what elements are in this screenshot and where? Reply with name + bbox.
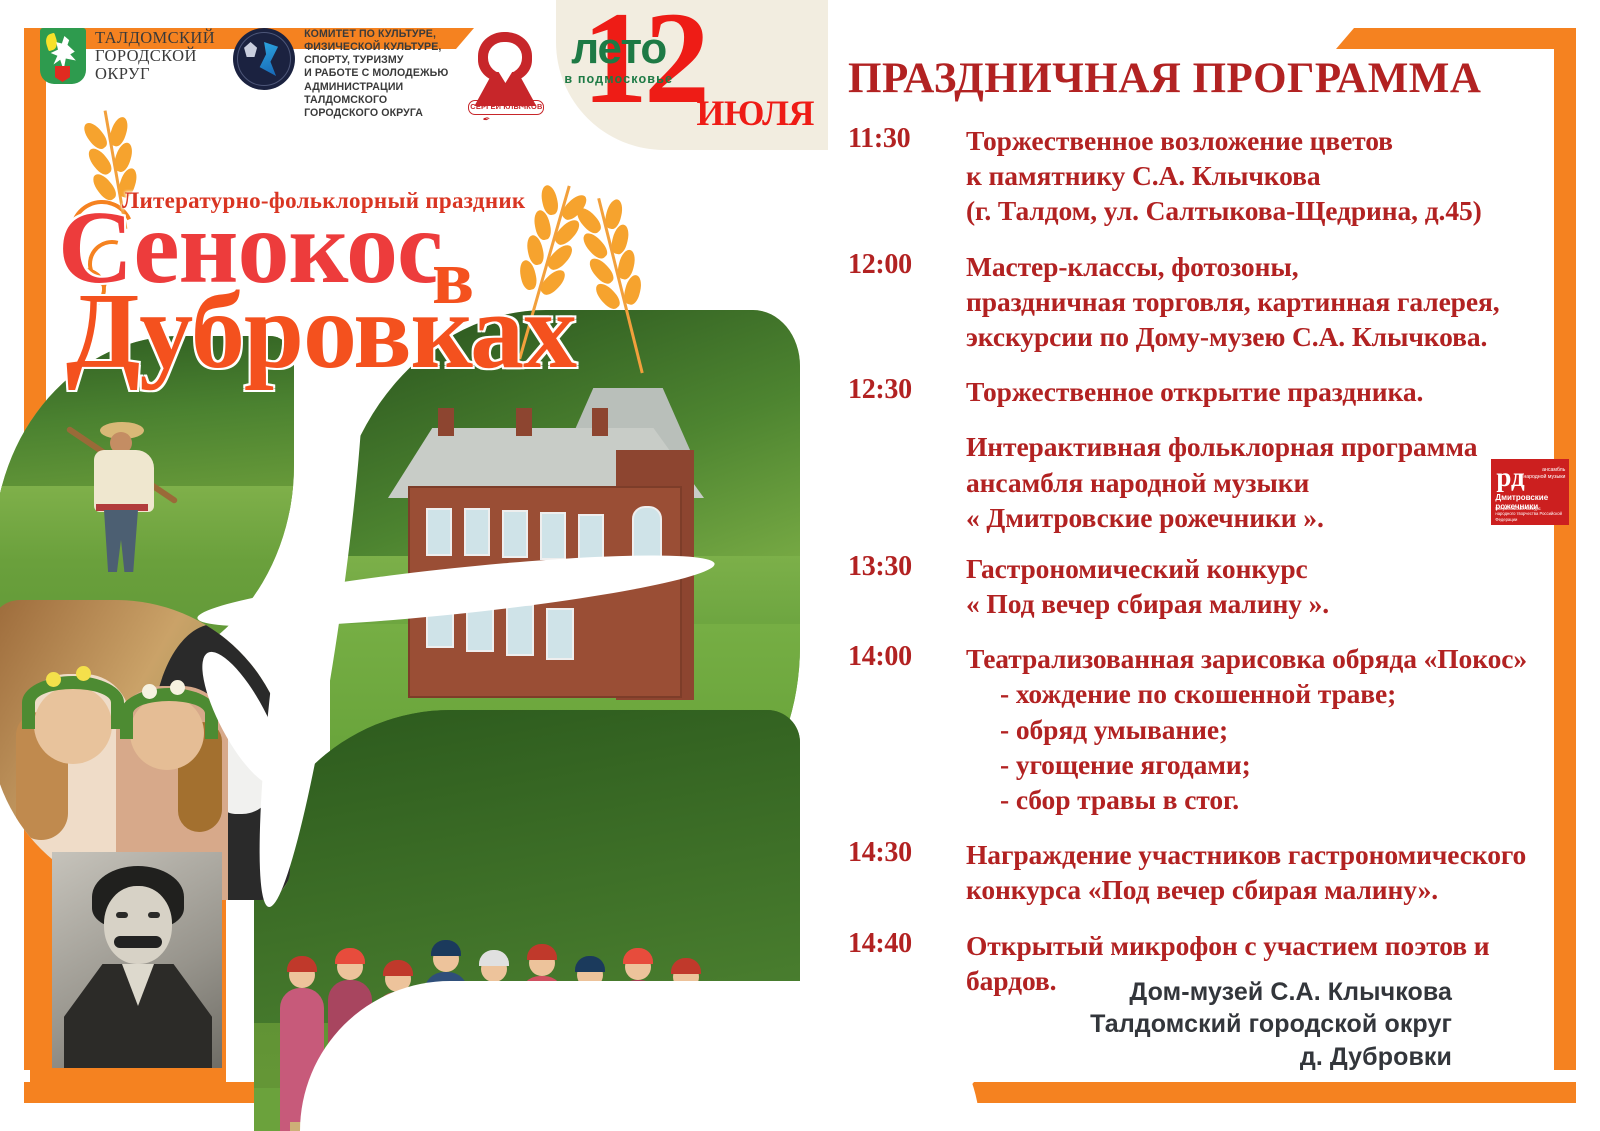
program-description: Торжественное открытие праздника. (966, 374, 1423, 409)
footer-line-2: Талдомский городской округ (1090, 1008, 1452, 1041)
program-time: 14:00 (848, 641, 966, 817)
leto-word: лето (571, 28, 666, 70)
house-chimney (592, 408, 608, 436)
culture-committee-logo: КОМИТЕТ ПО КУЛЬТУРЕ, ФИЗИЧЕСКОЙ КУЛЬТУРЕ… (233, 28, 448, 120)
portrait-eye (148, 912, 160, 918)
linen-shirt (94, 450, 154, 512)
portrait-moustache (114, 936, 162, 948)
program-row: 13:30 Гастрономический конкурс « Под веч… (848, 551, 1538, 621)
program-line: « Под вечер сбирая малину ». (966, 586, 1329, 621)
frame-right (1554, 28, 1576, 1070)
program-line: Мастер-классы, фотозоны, (966, 249, 1500, 284)
program-time: 12:00 (848, 249, 966, 355)
program-line: ансамбля народной музыки (966, 465, 1477, 500)
footer-line-1: Дом-музей С.А. Клычкова (1090, 976, 1452, 1009)
program-row: 12:30 Торжественное открытие праздника. (848, 374, 1538, 409)
header-logos: ТАЛДОМСКИЙ ГОРОДСКОЙ ОКРУГ КОМИТЕТ ПО КУ… (40, 28, 673, 120)
dmitrovskie-rozhechniki-logo: рд ансамбль народной музыки Дмитровские … (1491, 459, 1569, 525)
portrait-face (104, 886, 172, 964)
flower-wreath (120, 688, 218, 739)
program-line: конкурса «Под вечер сбирая малину». (966, 872, 1526, 907)
program-line: Торжественное возложение цветов (966, 123, 1482, 158)
footer-venue: Дом-музей С.А. Клычкова Талдомский город… (1090, 976, 1452, 1074)
coat-line-2: ГОРОДСКОЙ (95, 47, 215, 65)
program-heading: ПРАЗДНИЧНАЯ ПРОГРАММА (848, 54, 1538, 103)
coat-of-arms-text: ТАЛДОМСКИЙ ГОРОДСКОЙ ОКРУГ (95, 29, 215, 83)
program-line: Театрализованная зарисовка обряда «Покос… (966, 641, 1527, 676)
program-bullet: - сбор травы в стог. (966, 782, 1527, 817)
program-time: 12:30 (848, 374, 966, 409)
program-panel: ПРАЗДНИЧНАЯ ПРОГРАММА 11:30 Торжественно… (848, 54, 1538, 1018)
house-window (464, 508, 490, 556)
program-line: (г. Талдом, ул. Салтыкова-Щедрина, д.45) (966, 193, 1482, 228)
wreath-flower (142, 684, 157, 699)
program-row: 11:30 Торжественное возложение цветов к … (848, 123, 1538, 229)
house-chimney (438, 408, 454, 436)
event-poster: ТАЛДОМСКИЙ ГОРОДСКОЙ ОКРУГ КОМИТЕТ ПО КУ… (0, 0, 1600, 1131)
date-month: ИЮЛЯ (696, 92, 814, 134)
coat-of-arms-icon (40, 28, 86, 84)
klychkov-logo-name: СЕРГЕЙ КЛЫЧКОВ (468, 100, 544, 115)
program-description: Интерактивная фольклорная программа анса… (966, 429, 1477, 535)
program-description: Мастер-классы, фотозоны, праздничная тор… (966, 249, 1500, 355)
program-row: 14:30 Награждение участников гастрономич… (848, 837, 1538, 907)
leto-v-podmoskovye-logo: лето в подмосковье (564, 28, 673, 86)
portrait-eye (116, 912, 128, 918)
program-time (848, 429, 966, 535)
program-bullet: - обряд умывание; (966, 712, 1527, 747)
sergey-klychkov-logo: СЕРГЕЙ КЛЫЧКОВ ✒ (466, 28, 544, 120)
coat-line-3: ОКРУГ (95, 65, 215, 83)
program-time: 14:30 (848, 837, 966, 907)
house-window (502, 510, 528, 558)
leto-subtitle: в подмосковье (564, 72, 673, 86)
rozhechniki-small-top: ансамбль народной музыки (1523, 467, 1565, 481)
house-window (506, 604, 534, 656)
wreath-flower (46, 672, 61, 687)
footer-line-3: д. Дубровки (1090, 1041, 1452, 1074)
program-line: Награждение участников гастрономического (966, 837, 1526, 872)
program-bullet: - хождение по скошенной траве; (966, 676, 1527, 711)
program-description: Награждение участников гастрономического… (966, 837, 1526, 907)
rozhechniki-fine-print: Всероссийский конкурс народного творчест… (1495, 506, 1569, 522)
flower-wreath (22, 676, 124, 729)
program-line: Гастрономический конкурс (966, 551, 1329, 586)
wreath-flower (170, 680, 185, 695)
program-bullets: - хождение по скошенной траве; - обряд у… (966, 676, 1527, 817)
house-chimney (516, 408, 532, 436)
frame-top-right (1336, 28, 1576, 49)
program-time: 14:40 (848, 928, 966, 998)
program-time: 13:30 (848, 551, 966, 621)
program-line: экскурсии по Дому-музею С.А. Клычкова. (966, 319, 1500, 354)
committee-text: КОМИТЕТ ПО КУЛЬТУРЕ, ФИЗИЧЕСКОЙ КУЛЬТУРЕ… (304, 28, 448, 120)
program-row: 14:00 Театрализованная зарисовка обряда … (848, 641, 1538, 817)
program-line: « Дмитровские рожечники ». (966, 500, 1477, 535)
wreath-flower (76, 666, 91, 681)
program-line: к памятнику С.А. Клычкова (966, 158, 1482, 193)
house-window (546, 608, 574, 660)
frame-bottom-right (956, 1082, 1576, 1103)
mower-figure (90, 422, 166, 572)
poster-title-line2: Дубровках (66, 278, 576, 386)
house-window (426, 508, 452, 556)
program-bullet: - угощение ягодами; (966, 747, 1527, 782)
program-description: Торжественное возложение цветов к памятн… (966, 123, 1482, 229)
program-description: Театрализованная зарисовка обряда «Покос… (966, 641, 1527, 817)
program-row: 12:00 Мастер-классы, фотозоны, праздничн… (848, 249, 1538, 355)
program-line: праздничная торговля, картинная галерея, (966, 284, 1500, 319)
house-window (578, 514, 604, 562)
program-time: 11:30 (848, 123, 966, 229)
trousers (104, 510, 138, 572)
program-line: Торжественное открытие праздника. (966, 374, 1423, 409)
program-line: Открытый микрофон с участием поэтов и (966, 928, 1490, 963)
rozhechniki-mark: рд (1496, 465, 1524, 489)
coat-line-1: ТАЛДОМСКИЙ (95, 29, 215, 47)
program-row: Интерактивная фольклорная программа анса… (848, 429, 1538, 535)
house-window (540, 512, 566, 560)
klychkov-portrait-photo (52, 852, 222, 1068)
taldom-coat-of-arms-logo: ТАЛДОМСКИЙ ГОРОДСКОЙ ОКРУГ (40, 28, 215, 84)
program-description: Гастрономический конкурс « Под вечер сби… (966, 551, 1329, 621)
program-line: Интерактивная фольклорная программа (966, 429, 1477, 464)
klychkov-signature-icon: ✒ (482, 114, 491, 126)
committee-seal-icon (233, 28, 295, 90)
folk-trees (254, 710, 800, 1023)
belt (96, 504, 148, 511)
